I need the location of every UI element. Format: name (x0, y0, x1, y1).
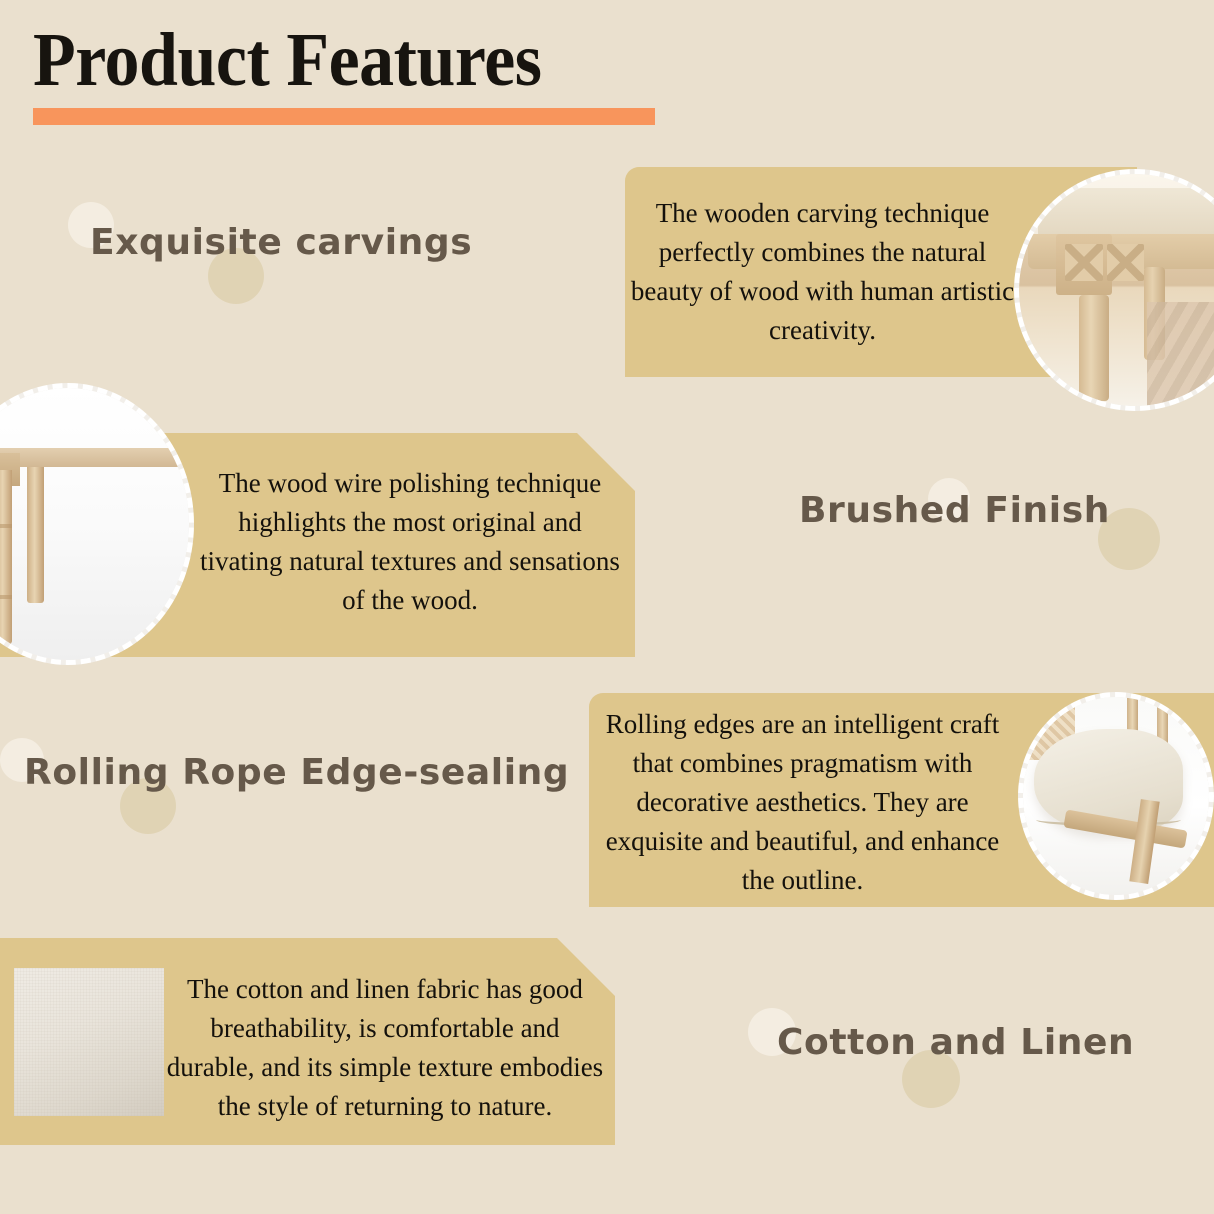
feature-heading-brushed-finish: Brushed Finish (799, 490, 1110, 531)
feature-heading-cotton-and-linen: Cotton and Linen (777, 1022, 1134, 1063)
title-block: Product Features (33, 18, 655, 125)
feature-body-exquisite-carvings: The wooden carving technique perfectly c… (627, 194, 1018, 350)
table-legs-photo (0, 383, 194, 665)
chair-seat-edge-photo (1018, 692, 1214, 900)
carved-wood-corner-image (1019, 174, 1214, 406)
title-underline-bar (33, 108, 655, 125)
chair-seat-edge-image (1023, 697, 1209, 895)
feature-heading-exquisite-carvings: Exquisite carvings (90, 222, 472, 263)
feature-heading-rolling-rope-edge-sealing: Rolling Rope Edge-sealing (24, 752, 569, 793)
feature-body-cotton-and-linen: The cotton and linen fabric has good bre… (166, 970, 604, 1126)
table-legs-image (0, 388, 189, 660)
linen-fabric-swatch-photo (14, 968, 164, 1116)
carved-wood-corner-photo (1014, 169, 1214, 411)
linen-fabric-swatch-image (20, 974, 158, 1110)
feature-body-brushed-finish: The wood wire polishing technique highli… (196, 464, 624, 620)
page-title: Product Features (33, 18, 605, 102)
feature-body-rolling-rope-edge-sealing: Rolling edges are an intelligent craft t… (596, 705, 1009, 900)
